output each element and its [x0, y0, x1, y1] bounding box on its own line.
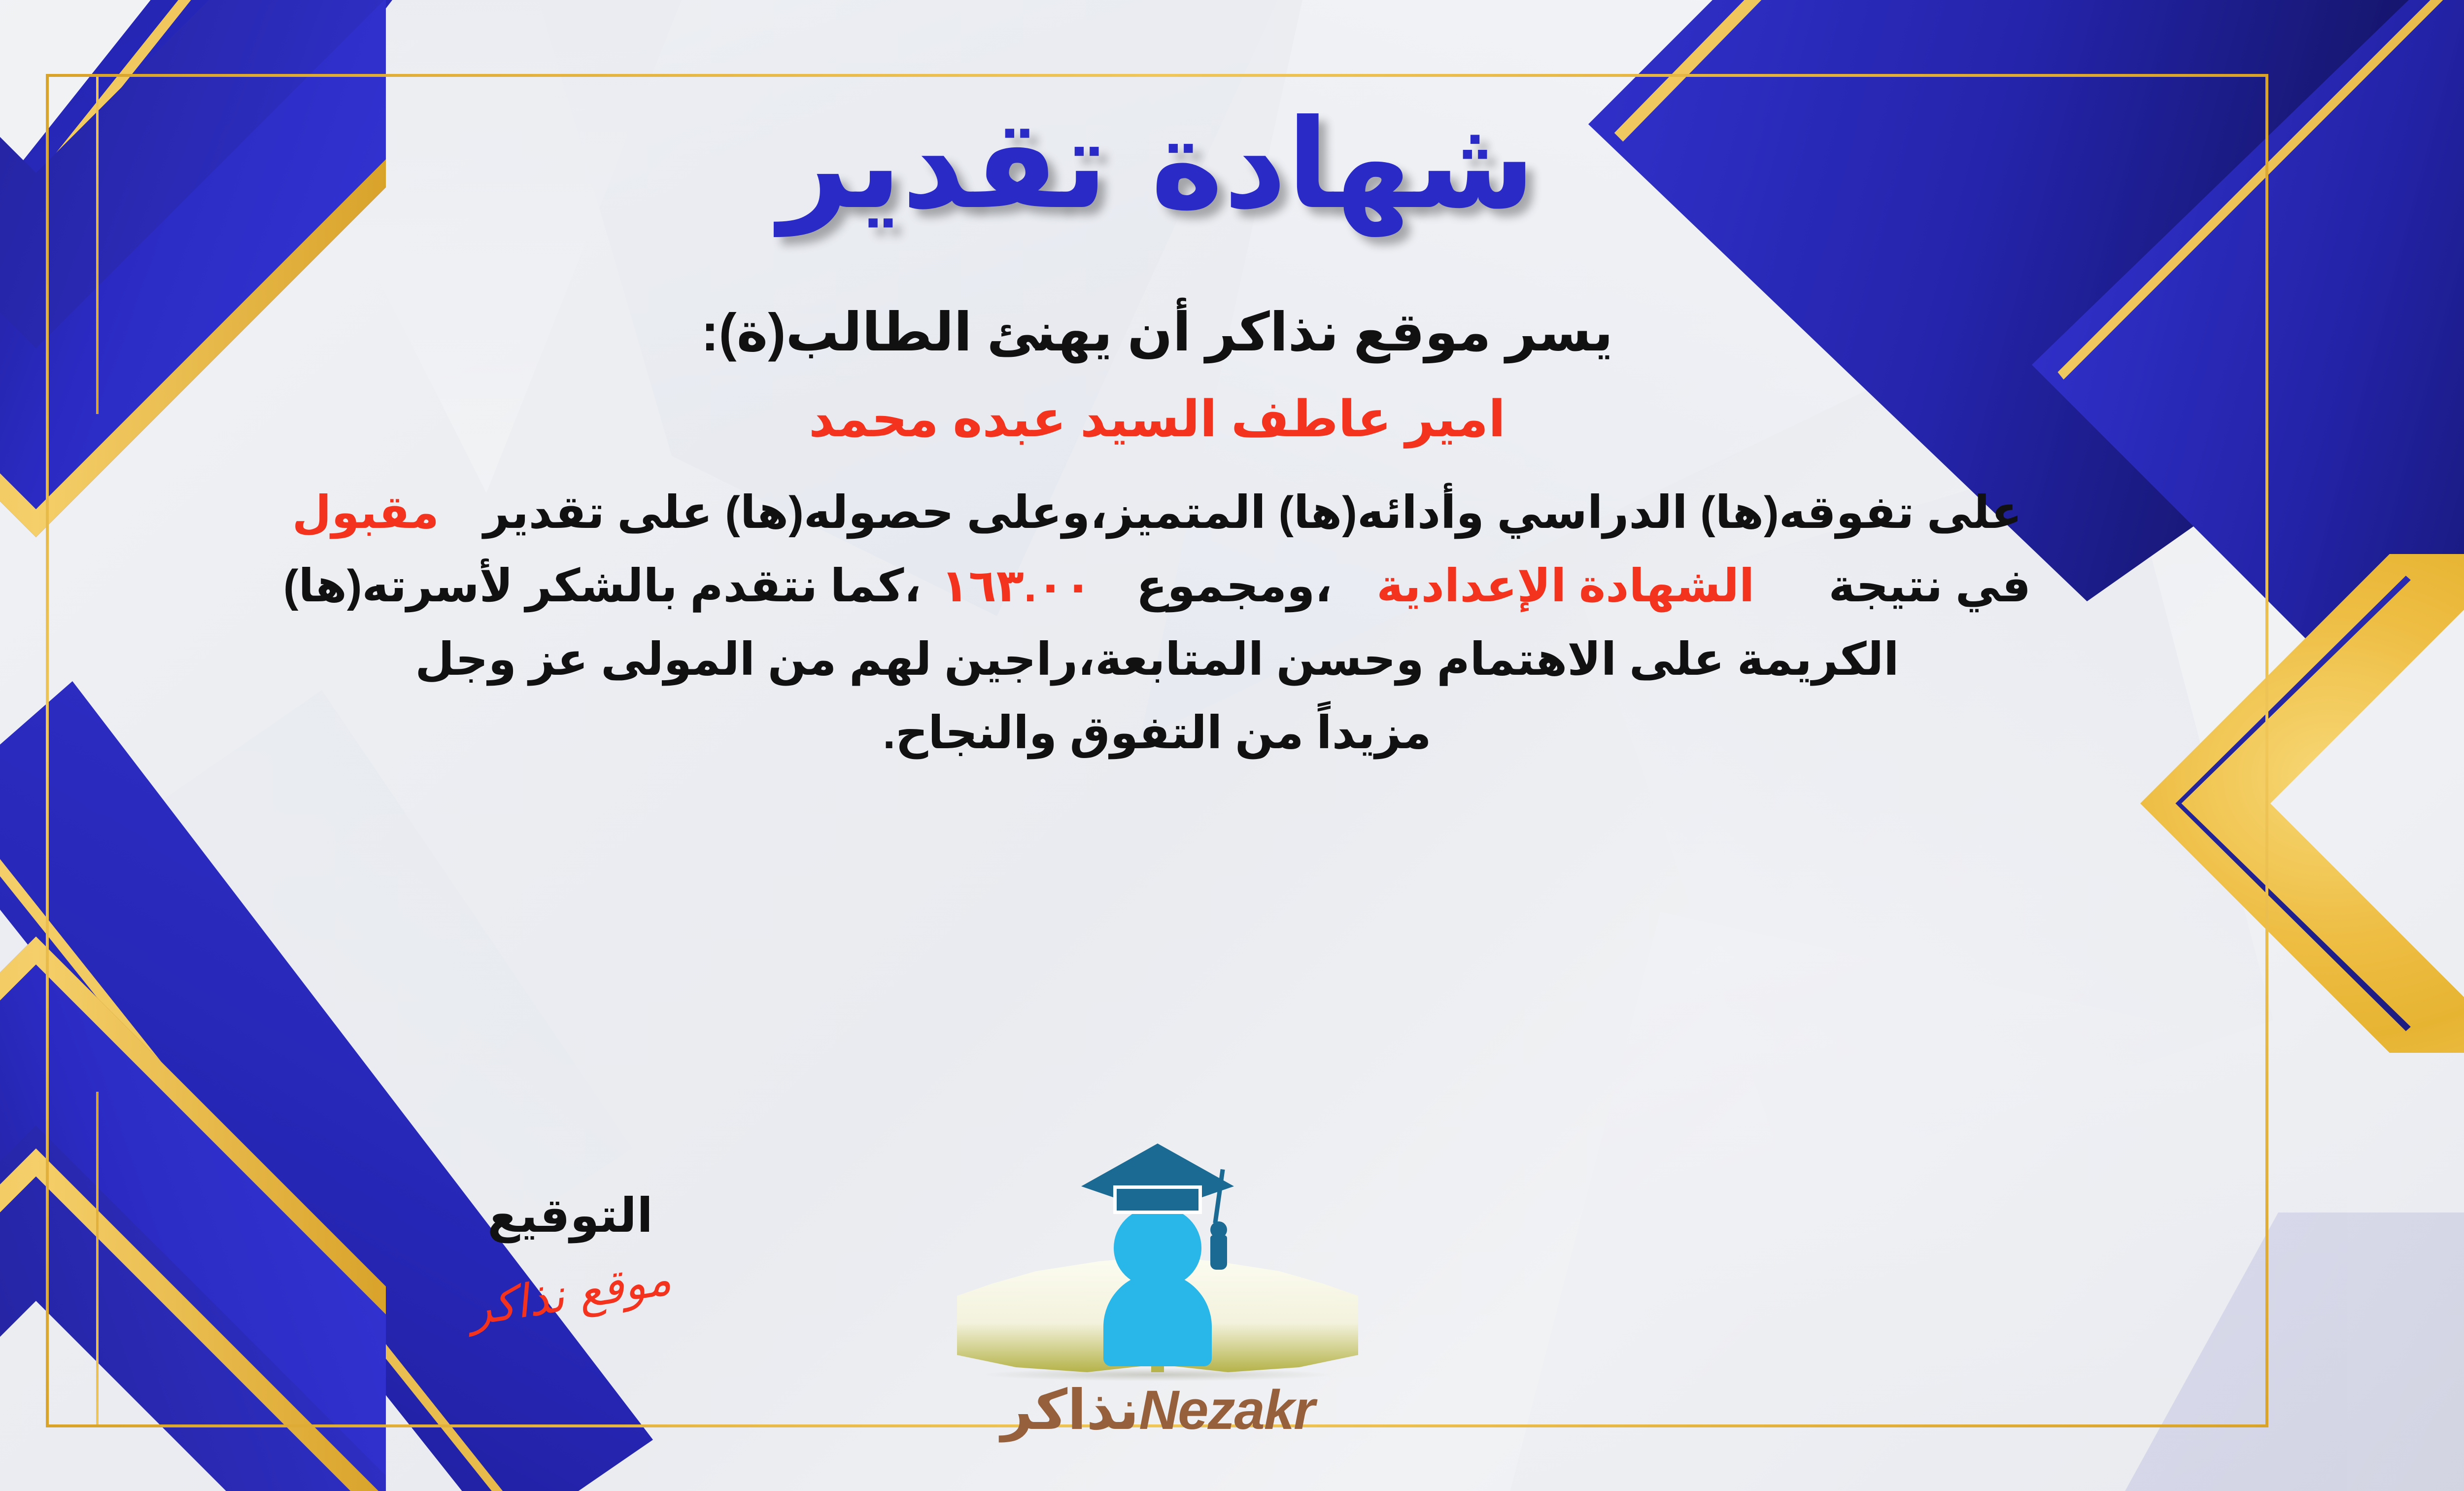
tassel-tail	[1210, 1235, 1227, 1270]
result-prefix-text: في نتيجة	[1828, 561, 2031, 611]
certificate-body: على تفوقه(ها) الدراسي وأدائه(ها) المتميز…	[88, 476, 2226, 770]
student-name: امير عاطف السيد عبده محمد	[809, 390, 1506, 449]
body-line-result: في نتيجةالشهادة الإعدادية،ومجموع١٦٣.٠٠،ك…	[88, 550, 2226, 623]
logo-arabic-text: نذاكر	[1001, 1379, 1139, 1441]
right-gold-stem	[2266, 567, 2268, 932]
body-line-family: الكريمة على الاهتمام وحسن المتابعة،راجين…	[88, 623, 2226, 696]
thanks-text: ،كما نتقدم بالشكر لأسرته(ها)	[283, 561, 921, 611]
total-label-text: ،ومجموع	[1136, 561, 1333, 611]
site-logo: Nezakrنذاكر	[938, 1139, 1377, 1442]
total-score-value: ١٦٣.٠٠	[941, 561, 1092, 611]
intro-line: يسر موقع نذاكر أن يهنئ الطالب(ة):	[701, 301, 1613, 363]
certificate-title: شهادة تقدير	[779, 88, 1535, 242]
signature-mark: موقع نذاكر	[466, 1252, 675, 1336]
frame-border-right	[2265, 74, 2268, 1427]
student-head	[1114, 1208, 1201, 1286]
graduation-cap-band	[1113, 1185, 1202, 1214]
grade-sentence-text: على تفوقه(ها) الدراسي وأدائه(ها) المتميز…	[483, 487, 2022, 538]
certificate-page: شهادة تقدير يسر موقع نذاكر أن يهنئ الطال…	[0, 0, 2464, 1491]
certificate-footer: التوقيع موقع نذاكر	[49, 1134, 2265, 1491]
logo-wordmark: Nezakrنذاكر	[938, 1378, 1377, 1442]
grade-value: مقبول	[292, 487, 439, 538]
certificate-type-value: الشهادة الإعدادية	[1376, 561, 1754, 611]
body-line-grade: على تفوقه(ها) الدراسي وأدائه(ها) المتميز…	[88, 476, 2226, 550]
certificate-content: شهادة تقدير يسر موقع نذاكر أن يهنئ الطال…	[49, 74, 2265, 1424]
signature-label: التوقيع	[383, 1188, 757, 1243]
body-line-closing: مزيداً من التفوق والنجاح.	[88, 696, 2226, 770]
graduation-book-icon	[938, 1139, 1377, 1375]
signature-block: التوقيع موقع نذاكر	[383, 1188, 757, 1320]
logo-latin-text: Nezakr	[1139, 1379, 1314, 1441]
